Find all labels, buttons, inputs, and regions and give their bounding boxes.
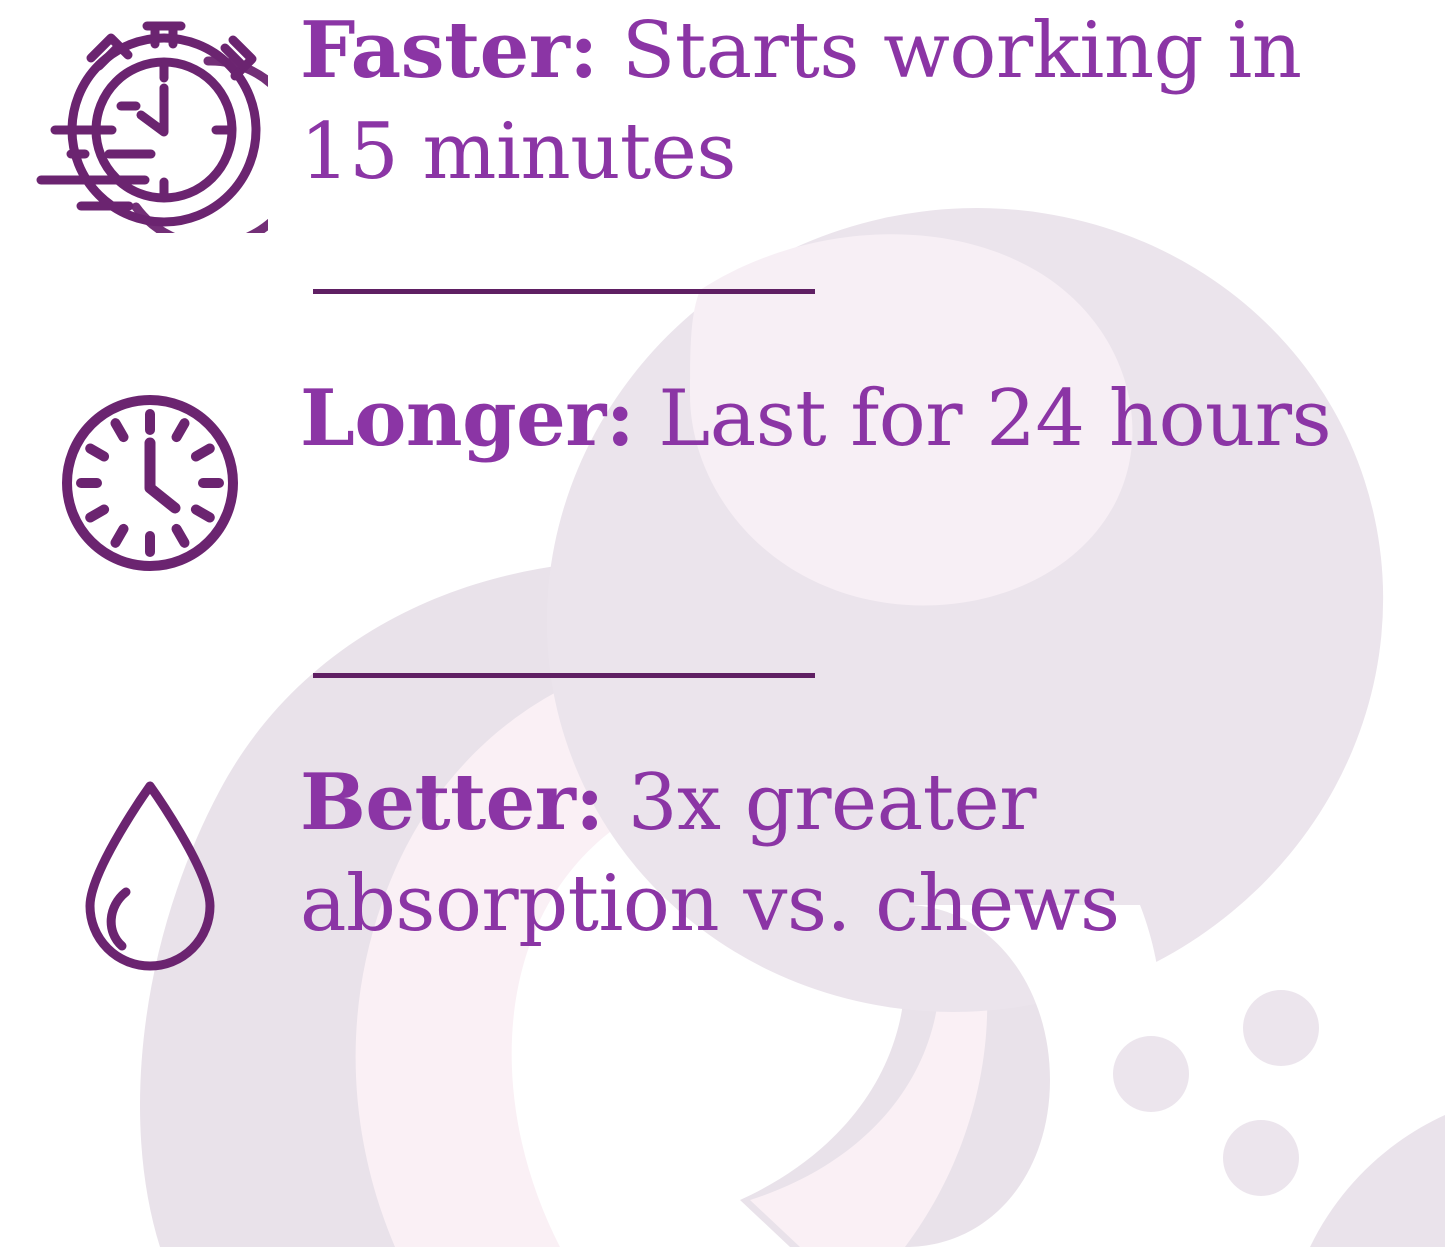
benefit-icon-cell bbox=[0, 752, 300, 979]
clock-icon bbox=[55, 388, 245, 578]
benefit-icon-cell bbox=[0, 0, 300, 233]
benefit-text-faster: Faster: Starts working in 15 minutes bbox=[300, 0, 1405, 204]
benefits-infographic: Faster: Starts working in 15 minutes bbox=[0, 0, 1445, 1247]
benefit-text-longer: Longer: Last for 24 hours bbox=[300, 368, 1405, 470]
droplet-icon bbox=[70, 774, 230, 979]
benefit-icon-cell bbox=[0, 368, 300, 578]
benefit-label-faster: Faster: bbox=[300, 5, 598, 96]
benefit-text-better: Better: 3x greater absorption vs. chews bbox=[300, 752, 1405, 956]
benefit-label-better: Better: bbox=[300, 757, 604, 848]
benefits-content: Faster: Starts working in 15 minutes bbox=[0, 0, 1445, 1247]
divider-longer-better bbox=[313, 673, 815, 678]
benefit-row-better: Better: 3x greater absorption vs. chews bbox=[0, 752, 1445, 1007]
benefit-text-cell: Faster: Starts working in 15 minutes bbox=[300, 0, 1445, 204]
divider-faster-longer bbox=[313, 289, 815, 294]
benefit-text-cell: Better: 3x greater absorption vs. chews bbox=[300, 752, 1445, 956]
benefit-description-longer: Last for 24 hours bbox=[634, 374, 1331, 464]
stopwatch-icon bbox=[33, 8, 268, 233]
benefit-row-longer: Longer: Last for 24 hours bbox=[0, 368, 1445, 623]
benefit-row-faster: Faster: Starts working in 15 minutes bbox=[0, 0, 1445, 255]
benefit-label-longer: Longer: bbox=[300, 373, 634, 464]
benefit-text-cell: Longer: Last for 24 hours bbox=[300, 368, 1445, 470]
